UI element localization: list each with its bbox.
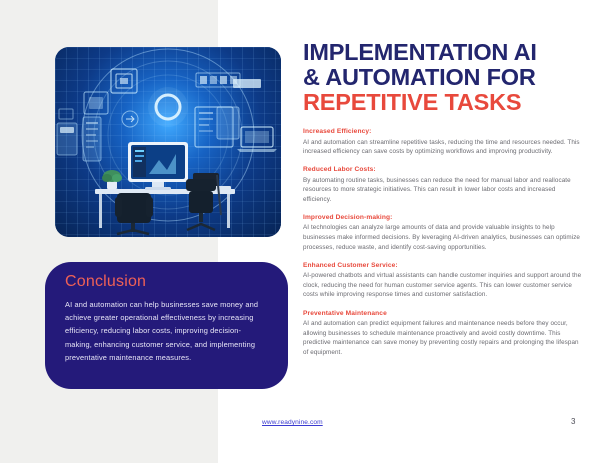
section-title: Increased Efficiency:	[303, 128, 583, 135]
section-increased-efficiency: Increased Efficiency: AI and automation …	[303, 128, 583, 157]
section-body: AI and automation can streamline repetit…	[303, 138, 583, 157]
section-enhanced-customer-service: Enhanced Customer Service: AI-powered ch…	[303, 262, 583, 300]
conclusion-card: Conclusion AI and automation can help bu…	[45, 262, 288, 389]
section-title: Preventative Maintenance	[303, 310, 583, 317]
section-title: Reduced Labor Costs:	[303, 166, 583, 173]
footer-website-link[interactable]: www.readynine.com	[262, 419, 323, 426]
heading-line-1: IMPLEMENTATION AI	[303, 39, 537, 65]
section-title: Improved Decision-making:	[303, 214, 583, 221]
section-body: By automating routine tasks, businesses …	[303, 176, 583, 205]
page-title: IMPLEMENTATION AI & AUTOMATION FOR REPET…	[303, 40, 583, 115]
content-column: IMPLEMENTATION AI & AUTOMATION FOR REPET…	[303, 40, 583, 367]
section-body: AI and automation can predict equipment …	[303, 319, 583, 357]
document-page: Conclusion AI and automation can help bu…	[0, 0, 600, 463]
page-number: 3	[571, 417, 575, 426]
section-improved-decision-making: Improved Decision-making: AI technologie…	[303, 214, 583, 252]
section-reduced-labor-costs: Reduced Labor Costs: By automating routi…	[303, 166, 583, 204]
illustration-vector-layer	[55, 47, 281, 237]
conclusion-title: Conclusion	[65, 273, 268, 291]
tech-office-illustration-image	[55, 47, 281, 237]
heading-line-2: & AUTOMATION FOR	[303, 64, 536, 90]
section-title: Enhanced Customer Service:	[303, 262, 583, 269]
section-body: AI technologies can analyze large amount…	[303, 223, 583, 252]
heading-line-3: REPETITIVE TASKS	[303, 89, 521, 115]
conclusion-body-text: AI and automation can help businesses sa…	[65, 298, 268, 364]
section-preventative-maintenance: Preventative Maintenance AI and automati…	[303, 310, 583, 358]
section-body: AI-powered chatbots and virtual assistan…	[303, 271, 583, 300]
